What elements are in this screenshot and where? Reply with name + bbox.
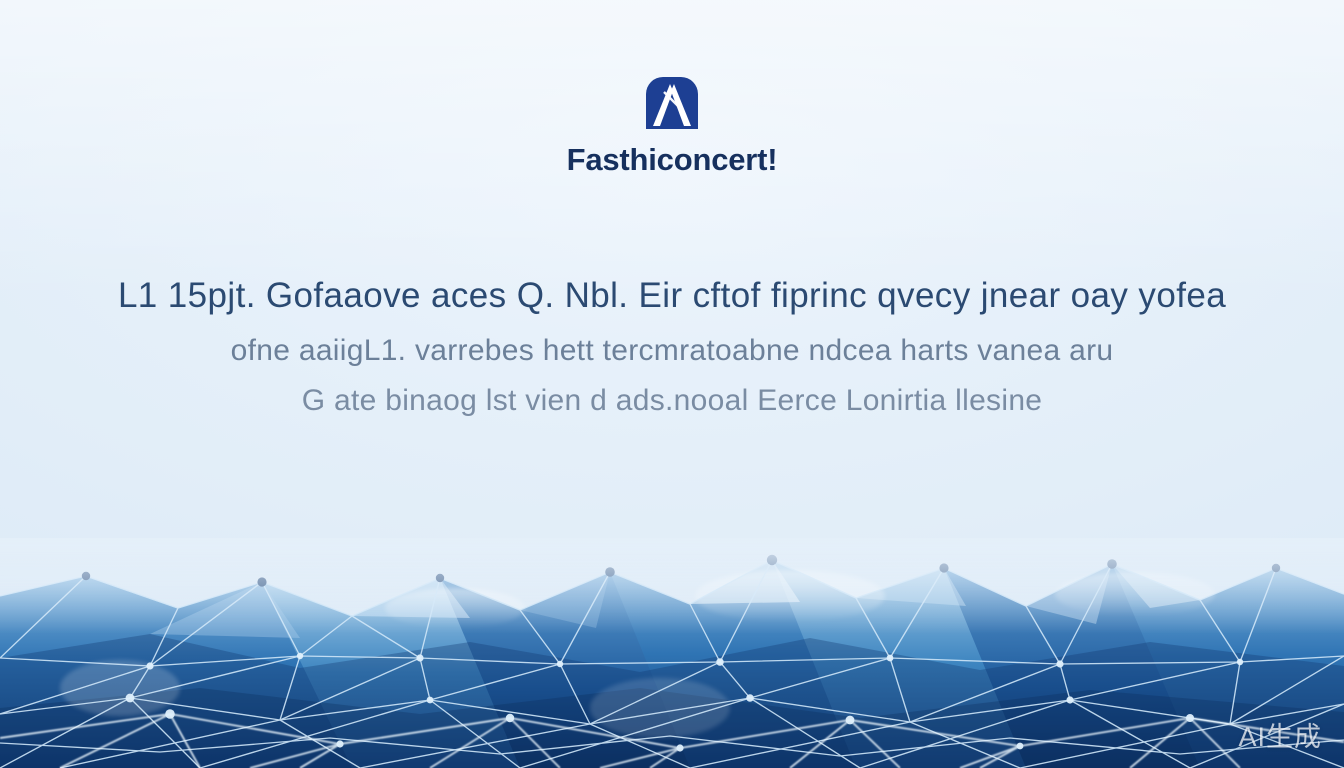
headline-line-1: L1 15pjt. Gofaaove aces Q. Nbl. Eir cfto… — [118, 278, 1226, 313]
headline-block: L1 15pjt. Gofaaove aces Q. Nbl. Eir cfto… — [0, 278, 1344, 416]
mesh-svg — [0, 538, 1344, 768]
triangle-a-logo-icon — [643, 74, 701, 132]
brand-name: Fasthiconcert! — [567, 142, 778, 178]
mesh-top-fade — [0, 538, 1344, 634]
network-mesh-graphic — [0, 538, 1344, 768]
headline-line-2: ofne aaiigL1. varrebes hett tercmratoabn… — [231, 336, 1114, 366]
title-slide: Fasthiconcert! L1 15pjt. Gofaaove aces Q… — [0, 0, 1344, 768]
brand-block: Fasthiconcert! — [0, 74, 1344, 178]
ai-generated-watermark: AI生成 — [1238, 715, 1322, 754]
headline-line-3: G ate binaog lst vien d ads.nooal Eerce … — [302, 386, 1043, 416]
